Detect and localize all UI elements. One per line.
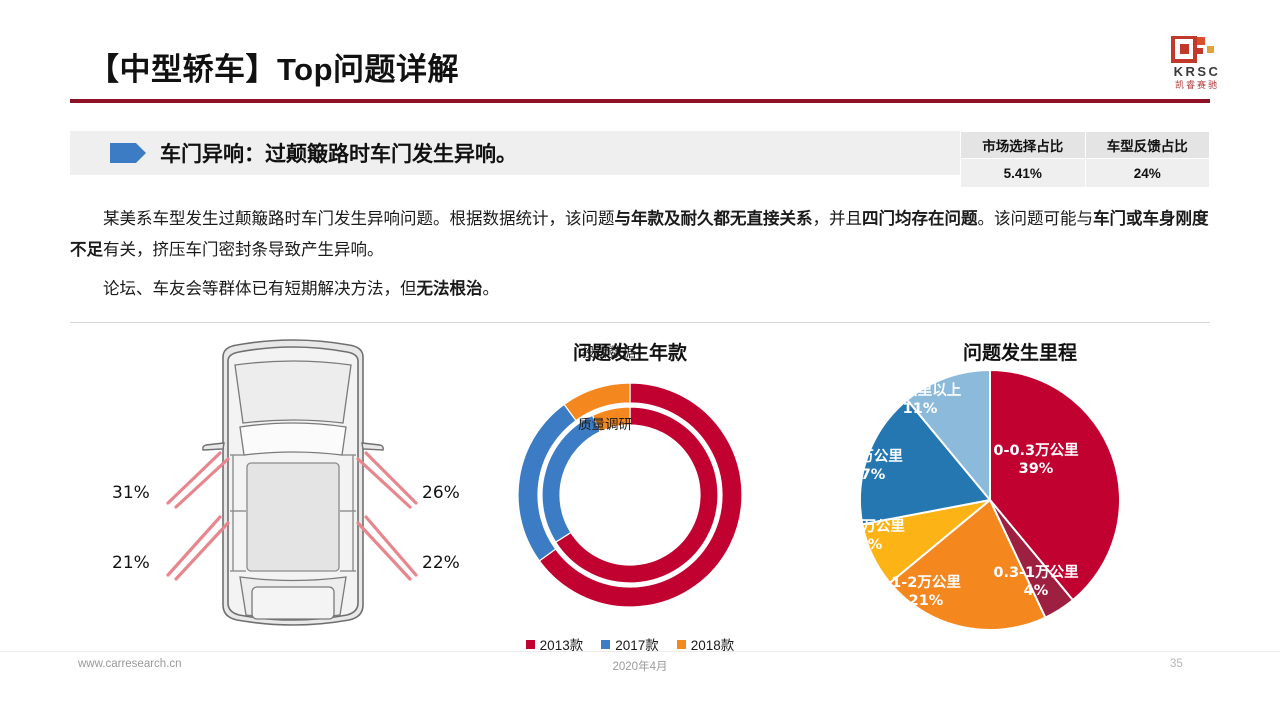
stats-table: 市场选择占比 车型反馈占比 5.41% 24% [960, 131, 1210, 188]
car-label-rear-left: 21% [112, 553, 150, 573]
pie-slice-category: 3-5万公里 [833, 448, 903, 466]
body-paragraph-1: 某美系车型发生过颠簸路时车门发生异响问题。根据数据统计，该问题与年款及耐久都无直… [70, 203, 1210, 265]
title-divider [70, 99, 1210, 103]
car-topview-icon [120, 335, 470, 635]
pie-slice-category: 0-0.3万公里 [993, 442, 1078, 460]
arrow-marker-icon [110, 143, 146, 163]
legend-swatch-icon [677, 640, 686, 649]
pie-slice-category: 0.3-1万公里 [993, 564, 1078, 582]
stat-value-market-share: 5.41% [961, 159, 1086, 188]
slide-root: 【中型轿车】Top问题详解 KRSC 凯睿赛驰 车门异响：过颠簸路时车门发生异响… [0, 0, 1280, 720]
pie-slice-label: 3-5万公里17% [833, 448, 903, 484]
car-label-rear-right: 22% [422, 553, 460, 573]
pie-slice-category: 1-2万公里 [891, 574, 961, 592]
pie-slice-label: 0-0.3万公里39% [993, 442, 1078, 478]
pie-slice-label: 1-2万公里21% [891, 574, 961, 610]
issue-banner-text: 车门异响：过颠簸路时车门发生异响。 [160, 138, 517, 168]
pie-slice-label: 5万公里以上11% [879, 382, 962, 418]
donut-inner-ring-label: 质量调研 [578, 413, 632, 433]
pie-chart: 0-0.3万公里39%0.3-1万公里4%1-2万公里21%2-3万公里8%3-… [840, 360, 1170, 640]
car-door-diagram: 31% 26% 21% 22% [120, 335, 470, 635]
logo-text: KRSC [1148, 65, 1246, 78]
pie-slice-value: 8% [835, 536, 905, 554]
pie-slice-value: 11% [879, 400, 962, 418]
stat-header-market-share: 市场选择占比 [961, 132, 1086, 159]
pie-slice-label: 0.3-1万公里4% [993, 564, 1078, 600]
footer-page-number: 35 [1170, 658, 1183, 670]
plain-text: ，并且 [813, 209, 863, 228]
legend-swatch-icon [526, 640, 535, 649]
pie-slice-category: 2-3万公里 [835, 518, 905, 536]
donut-chart: 投诉数据 质量调研 [500, 365, 760, 625]
plain-text: 。该问题可能与 [978, 209, 1094, 228]
plain-text: 论坛、车友会等群体已有短期解决方法，但 [103, 279, 417, 298]
pie-slice-value: 39% [993, 460, 1078, 478]
emphasis-text: 无法根治 [417, 279, 483, 298]
footer-date: 2020年4月 [560, 658, 720, 674]
pie-slice-category: 5万公里以上 [879, 382, 962, 400]
pie-slice-value: 21% [891, 592, 961, 610]
footer-website: www.carresearch.cn [78, 658, 182, 670]
logo-chinese-name: 凯睿赛驰 [1148, 80, 1246, 90]
page-title: 【中型轿车】Top问题详解 [88, 44, 459, 89]
car-label-front-left: 31% [112, 483, 150, 503]
pie-slice-value: 17% [833, 466, 903, 484]
stat-value-model-feedback: 24% [1085, 159, 1210, 188]
emphasis-text: 四门均存在问题 [862, 209, 978, 228]
logo-mark-icon [1167, 36, 1227, 63]
legend-swatch-icon [601, 640, 610, 649]
table-header-row: 市场选择占比 车型反馈占比 [961, 132, 1210, 159]
plain-text: 。 [483, 279, 500, 298]
stat-header-model-feedback: 车型反馈占比 [1085, 132, 1210, 159]
donut-outer-ring-label: 投诉数据 [582, 341, 636, 361]
donut-chart-svg [500, 365, 760, 625]
plain-text: 有关，挤压车门密封条导致产生异响。 [103, 240, 384, 259]
emphasis-text: 与年款及耐久都无直接关系 [615, 209, 813, 228]
body-paragraph-2: 论坛、车友会等群体已有短期解决方法，但无法根治。 [70, 273, 1210, 304]
footer-divider [0, 651, 1280, 652]
logo-glyph-icon [1167, 36, 1227, 63]
car-label-front-right: 26% [422, 483, 460, 503]
pie-slice-label: 2-3万公里8% [835, 518, 905, 554]
company-logo: KRSC 凯睿赛驰 [1148, 36, 1246, 94]
pie-slice-value: 4% [993, 582, 1078, 600]
table-value-row: 5.41% 24% [961, 159, 1210, 188]
plain-text: 某美系车型发生过颠簸路时车门发生异响问题。根据数据统计，该问题 [103, 209, 615, 228]
section-divider [70, 322, 1210, 323]
issue-banner: 车门异响：过颠簸路时车门发生异响。 [70, 131, 960, 175]
